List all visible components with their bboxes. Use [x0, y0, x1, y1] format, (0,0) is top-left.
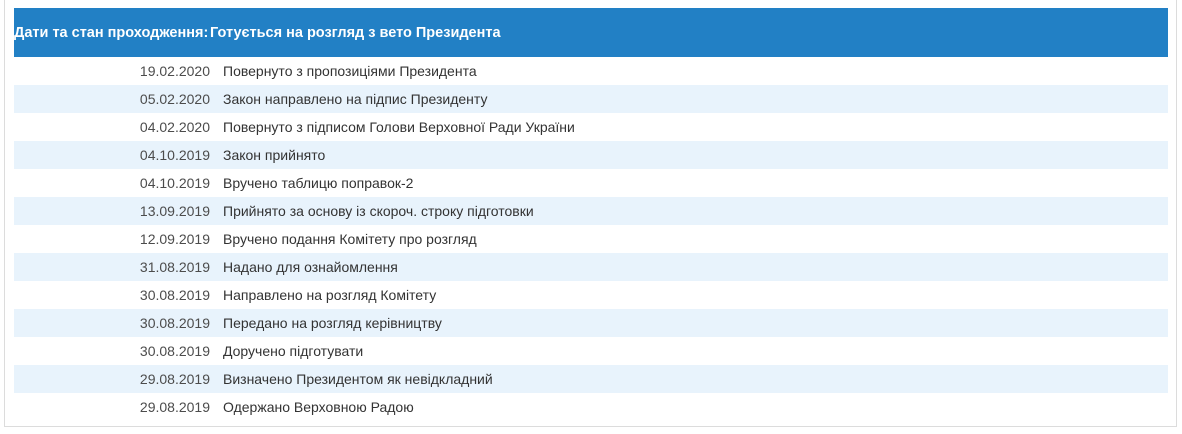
cell-date: 05.02.2020	[14, 85, 210, 113]
table-header: Дати та стан проходження: Готується на р…	[14, 8, 1168, 57]
cell-status: Направлено на розгляд Комітету	[210, 281, 1168, 309]
table-row: 29.08.2019Одержано Верховною Радою	[14, 393, 1168, 421]
cell-status: Вручено подання Комітету про розгляд	[210, 225, 1168, 253]
table-row: 13.09.2019Прийнято за основу із скороч. …	[14, 197, 1168, 225]
cell-date: 29.08.2019	[14, 365, 210, 393]
cell-status: Прийнято за основу із скороч. строку під…	[210, 197, 1168, 225]
cell-date: 19.02.2020	[14, 57, 210, 85]
bill-passage-table: Дати та стан проходження: Готується на р…	[14, 8, 1168, 421]
cell-status: Одержано Верховною Радою	[210, 393, 1168, 421]
cell-status: Повернуто з пропозиціями Президента	[210, 57, 1168, 85]
cell-date: 29.08.2019	[14, 393, 210, 421]
table-row: 04.10.2019Вручено таблицю поправок-2	[14, 169, 1168, 197]
cell-status: Визначено Президентом як невідкладний	[210, 365, 1168, 393]
table-row: 04.10.2019Закон прийнято	[14, 141, 1168, 169]
cell-date: 13.09.2019	[14, 197, 210, 225]
cell-status: Закон направлено на підпис Президенту	[210, 85, 1168, 113]
cell-status: Закон прийнято	[210, 141, 1168, 169]
table-row: 30.08.2019Направлено на розгляд Комітету	[14, 281, 1168, 309]
table-header-row: Дати та стан проходження: Готується на р…	[14, 8, 1168, 57]
table-row: 29.08.2019Визначено Президентом як невід…	[14, 365, 1168, 393]
bill-passage-panel-inner: Дати та стан проходження: Готується на р…	[14, 8, 1168, 421]
table-row: 30.08.2019Передано на розгляд керівництв…	[14, 309, 1168, 337]
cell-date: 04.10.2019	[14, 141, 210, 169]
cell-status: Доручено підготувати	[210, 337, 1168, 365]
table-row: 04.02.2020Повернуто з підписом Голови Ве…	[14, 113, 1168, 141]
cell-status: Передано на розгляд керівництву	[210, 309, 1168, 337]
table-row: 19.02.2020Повернуто з пропозиціями Прези…	[14, 57, 1168, 85]
cell-date: 04.02.2020	[14, 113, 210, 141]
table-row: 12.09.2019Вручено подання Комітету про р…	[14, 225, 1168, 253]
table-body: 19.02.2020Повернуто з пропозиціями Прези…	[14, 57, 1168, 421]
cell-status: Повернуто з підписом Голови Верховної Ра…	[210, 113, 1168, 141]
cell-date: 04.10.2019	[14, 169, 210, 197]
table-row: 30.08.2019Доручено підготувати	[14, 337, 1168, 365]
cell-status: Надано для ознайомлення	[210, 253, 1168, 281]
column-header-status: Готується на розгляд з вето Президента	[210, 8, 1168, 57]
cell-date: 31.08.2019	[14, 253, 210, 281]
cell-date: 30.08.2019	[14, 337, 210, 365]
column-header-dates: Дати та стан проходження:	[14, 8, 210, 57]
cell-date: 30.08.2019	[14, 309, 210, 337]
bill-passage-panel: Дати та стан проходження: Готується на р…	[4, 0, 1177, 427]
table-row: 05.02.2020Закон направлено на підпис Пре…	[14, 85, 1168, 113]
cell-date: 30.08.2019	[14, 281, 210, 309]
cell-status: Вручено таблицю поправок-2	[210, 169, 1168, 197]
cell-date: 12.09.2019	[14, 225, 210, 253]
table-row: 31.08.2019Надано для ознайомлення	[14, 253, 1168, 281]
